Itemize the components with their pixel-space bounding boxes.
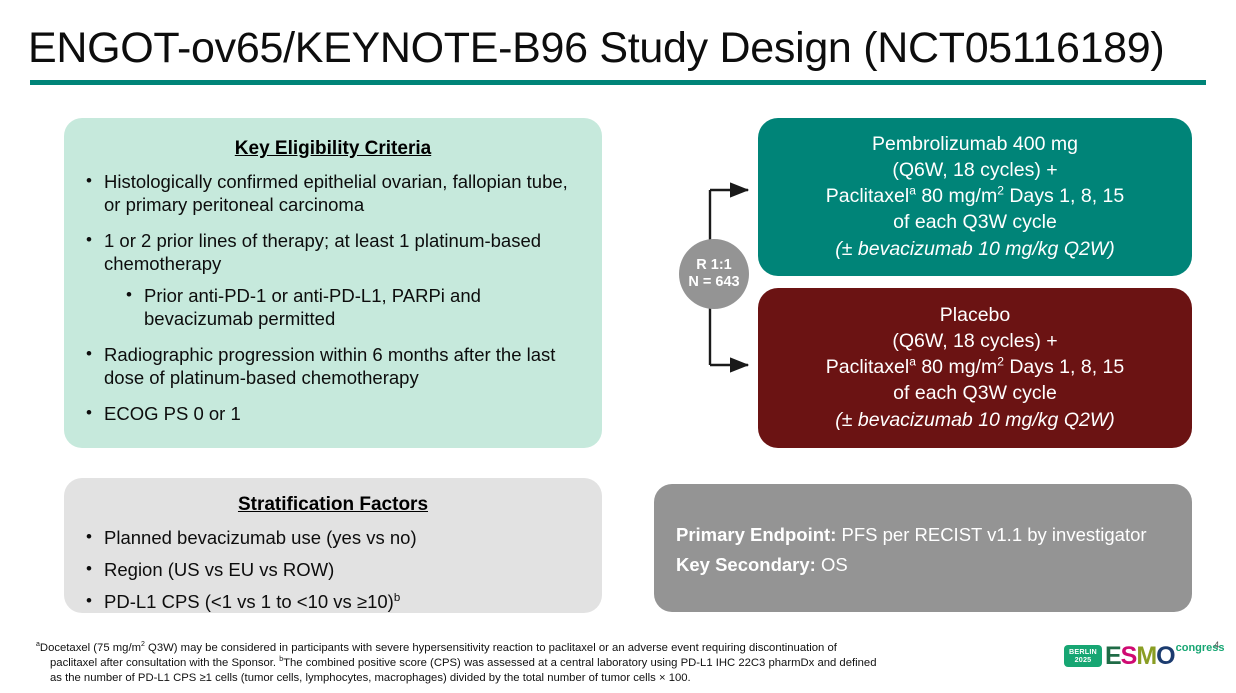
endpoints-panel: Primary Endpoint: PFS per RECIST v1.1 by… — [654, 484, 1192, 612]
stratification-list: Planned bevacizumab use (yes vs no) Regi… — [82, 526, 584, 613]
arm-a-line-3: Paclitaxela 80 mg/m2 Days 1, 8, 15 — [826, 183, 1125, 209]
randomization-ratio: R 1:1 — [696, 257, 731, 274]
arm-a-drug: Paclitaxel — [826, 185, 909, 207]
secondary-endpoint-value: OS — [816, 554, 848, 575]
primary-endpoint-label: Primary Endpoint: — [676, 524, 836, 545]
page-number: 4 — [1214, 640, 1219, 651]
title-underline-rule — [30, 80, 1206, 85]
list-item: PD-L1 CPS (<1 vs 1 to <10 vs ≥10)b — [82, 590, 584, 613]
arm-a-dose-tail: Days 1, 8, 15 — [1004, 185, 1124, 207]
dose-exponent: 2 — [997, 184, 1004, 198]
dose-exponent: 2 — [997, 355, 1004, 369]
list-item: ECOG PS 0 or 1 — [82, 402, 584, 425]
randomization-n: N = 643 — [688, 274, 739, 291]
arm-b-line-5: (± bevacizumab 10 mg/kg Q2W) — [835, 406, 1114, 434]
footnote-line-2a: paclitaxel after consultation with the S… — [50, 657, 279, 669]
footnote-marker-a: a — [909, 184, 916, 198]
primary-endpoint-row: Primary Endpoint: PFS per RECIST v1.1 by… — [676, 520, 1170, 550]
list-item: 1 or 2 prior lines of therapy; at least … — [82, 229, 584, 275]
footnote-line-2: paclitaxel after consultation with the S… — [36, 656, 1036, 671]
randomization-circle: R 1:1 N = 643 — [679, 239, 749, 309]
esmo-letter-o: O — [1156, 644, 1174, 669]
list-item: Region (US vs EU vs ROW) — [82, 558, 584, 581]
arm-a-line-2: (Q6W, 18 cycles) + — [892, 157, 1057, 183]
arm-b-drug: Paclitaxel — [826, 356, 909, 378]
secondary-endpoint-label: Key Secondary: — [676, 554, 816, 575]
arm-a-dose: 80 mg/m — [916, 185, 997, 207]
placebo-arm-box: Placebo (Q6W, 18 cycles) + Paclitaxela 8… — [758, 288, 1192, 448]
key-eligibility-panel: Key Eligibility Criteria Histologically … — [64, 118, 602, 448]
footnote-marker-b: b — [394, 592, 400, 604]
footnote-block: aDocetaxel (75 mg/m2 Q3W) may be conside… — [36, 641, 1036, 687]
arm-b-line-4: of each Q3W cycle — [893, 380, 1057, 406]
page-title: ENGOT-ov65/KEYNOTE-B96 Study Design (NCT… — [28, 22, 1208, 74]
eligibility-heading: Key Eligibility Criteria — [82, 138, 584, 160]
stratification-heading: Stratification Factors — [82, 494, 584, 516]
arm-b-dose-tail: Days 1, 8, 15 — [1004, 356, 1124, 378]
footnote-line-1-cont: Q3W) may be considered in participants w… — [145, 642, 837, 654]
stratification-panel: Stratification Factors Planned bevacizum… — [64, 478, 602, 613]
footnote-line-2b: The combined positive score (CPS) was as… — [283, 657, 876, 669]
arm-a-line-5: (± bevacizumab 10 mg/kg Q2W) — [835, 235, 1114, 263]
footnote-line-3: as the number of PD-L1 CPS ≥1 cells (tum… — [36, 671, 1036, 686]
arm-b-dose: 80 mg/m — [916, 356, 997, 378]
arm-a-line-1: Pembrolizumab 400 mg — [872, 131, 1078, 157]
esmo-congress-logo: BERLIN 2025 ESMO congress — [1064, 641, 1194, 671]
pembrolizumab-arm-box: Pembrolizumab 400 mg (Q6W, 18 cycles) + … — [758, 118, 1192, 276]
esmo-wordmark: ESMO — [1105, 644, 1175, 669]
list-item: Radiographic progression within 6 months… — [82, 343, 584, 389]
arm-a-line-4: of each Q3W cycle — [893, 209, 1057, 235]
list-item: Histologically confirmed epithelial ovar… — [82, 170, 584, 216]
secondary-endpoint-row: Key Secondary: OS — [676, 550, 1170, 580]
list-item: Planned bevacizumab use (yes vs no) — [82, 526, 584, 549]
logo-year: 2025 — [1069, 656, 1097, 664]
primary-endpoint-value: PFS per RECIST v1.1 by investigator — [836, 524, 1146, 545]
esmo-letter-e: E — [1105, 644, 1121, 669]
footnote-marker-a: a — [909, 355, 916, 369]
arm-b-line-1: Placebo — [940, 302, 1010, 328]
esmo-letter-s: S — [1121, 644, 1137, 669]
arm-b-line-3: Paclitaxela 80 mg/m2 Days 1, 8, 15 — [826, 354, 1125, 380]
footnote-line-1: aDocetaxel (75 mg/m2 Q3W) may be conside… — [36, 641, 1036, 656]
arm-b-line-2: (Q6W, 18 cycles) + — [892, 328, 1057, 354]
list-item: Prior anti-PD-1 or anti-PD-L1, PARPi and… — [82, 284, 584, 330]
stratification-item-3-text: PD-L1 CPS (<1 vs 1 to <10 vs ≥10) — [104, 591, 394, 612]
eligibility-list: Histologically confirmed epithelial ovar… — [82, 170, 584, 425]
berlin-2025-badge: BERLIN 2025 — [1064, 645, 1102, 668]
esmo-letter-m: M — [1136, 644, 1156, 669]
footnote-line-1-text: Docetaxel (75 mg/m — [40, 642, 141, 654]
slide: ENGOT-ov65/KEYNOTE-B96 Study Design (NCT… — [0, 0, 1236, 693]
